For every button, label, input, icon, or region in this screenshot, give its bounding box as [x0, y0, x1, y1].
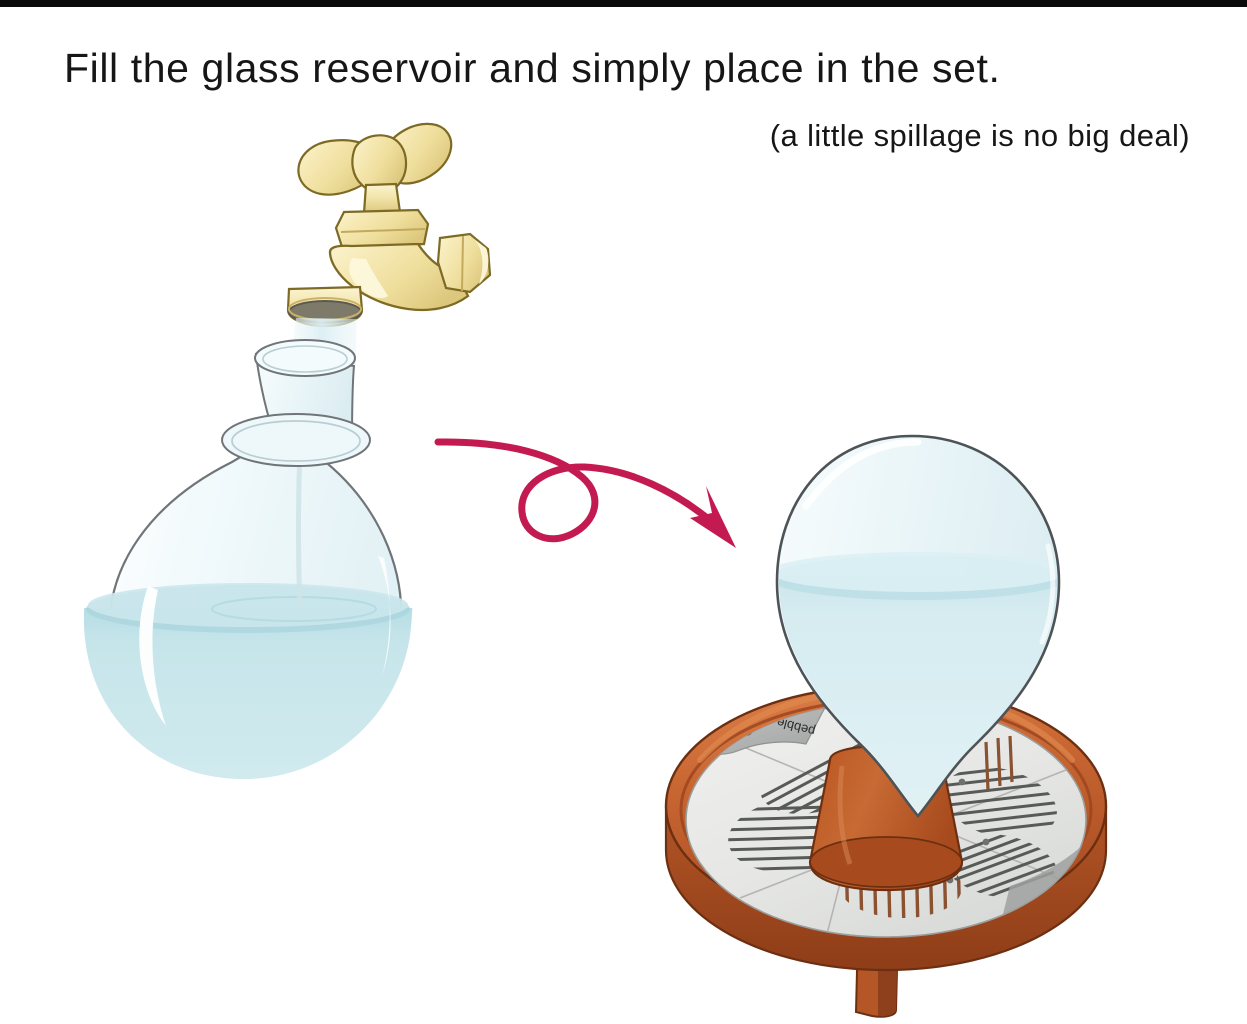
- reservoir-water-body: [60, 608, 430, 800]
- faucet-inlet-seam: [462, 236, 463, 291]
- tray-screw-right-low: [983, 839, 990, 846]
- looping-arrow: [438, 442, 736, 548]
- arrow-stroke: [438, 442, 712, 539]
- instruction-illustration: pebble originals: [0, 0, 1247, 1024]
- illustration-page: Fill the glass reservoir and simply plac…: [0, 0, 1247, 1024]
- reservoir-water-group: [60, 583, 430, 800]
- base-collar-bottom: [810, 837, 962, 887]
- reservoir-water-surface: [88, 583, 408, 627]
- reservoir-inner-wall-line: [299, 450, 301, 605]
- brass-faucet: [288, 124, 490, 326]
- arrow-head: [690, 486, 736, 548]
- faucet-stem: [364, 184, 400, 213]
- tray-screw-right: [959, 779, 966, 786]
- glass-reservoir-filling: [60, 340, 430, 800]
- faucet-inlet-nut: [438, 234, 490, 292]
- placed-reservoir-surface: [770, 552, 1066, 592]
